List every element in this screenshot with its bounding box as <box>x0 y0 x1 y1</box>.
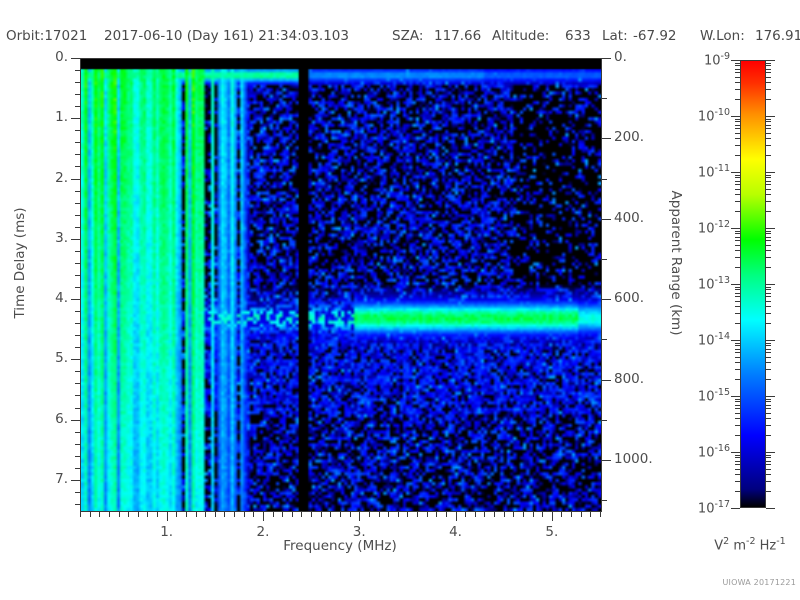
altitude-value: 633 <box>565 28 591 44</box>
axis-tick <box>196 512 197 517</box>
colorbar-units-label: V2 m-2 Hz-1 <box>690 536 800 553</box>
axis-tick <box>602 179 607 180</box>
axis-tick <box>766 379 771 380</box>
axis-tick <box>766 231 771 232</box>
apparent-range-tick-label: 0. <box>614 49 627 65</box>
axis-tick <box>340 512 341 517</box>
axis-tick <box>379 512 380 517</box>
axis-tick <box>436 512 437 517</box>
axis-tick <box>766 455 771 456</box>
frequency-tick-label: 1. <box>147 524 187 540</box>
axis-tick <box>766 245 771 246</box>
axis-tick <box>766 172 775 173</box>
axis-tick <box>263 512 264 521</box>
axis-tick <box>766 177 771 178</box>
axis-tick <box>602 380 611 381</box>
axis-tick <box>766 119 771 120</box>
axis-tick <box>571 512 572 517</box>
axis-tick <box>766 343 771 344</box>
axis-tick <box>602 219 611 220</box>
colorbar-tick-label: 10-15 <box>668 387 730 404</box>
time-delay-axis-title: Time Delay (ms) <box>12 183 28 343</box>
axis-tick <box>731 116 740 117</box>
west-longitude-label: W.Lon: <box>700 28 745 44</box>
axis-tick <box>766 175 771 176</box>
colorbar-tick-label: 10-10 <box>668 107 730 124</box>
axis-tick <box>388 512 389 517</box>
frequency-tick-label: 5. <box>532 524 572 540</box>
axis-tick <box>581 512 582 517</box>
axis-tick <box>602 460 611 461</box>
axis-tick <box>766 352 771 353</box>
axis-tick <box>359 512 360 521</box>
latitude-value: -67.92 <box>633 28 677 44</box>
axis-tick <box>99 512 100 517</box>
axis-tick <box>561 512 562 517</box>
axis-tick <box>552 512 553 521</box>
axis-tick <box>766 313 771 314</box>
time-delay-tick-label: 5. <box>22 350 68 366</box>
axis-tick <box>766 77 771 78</box>
axis-tick <box>731 508 740 509</box>
apparent-range-tick-label: 600. <box>614 290 644 306</box>
west-longitude-value: 176.91 <box>755 28 800 44</box>
axis-tick <box>766 452 775 453</box>
axis-tick <box>766 250 771 251</box>
colorbar <box>740 60 766 508</box>
axis-tick <box>766 133 771 134</box>
axis-tick <box>766 435 771 436</box>
axis-tick <box>766 60 775 61</box>
axis-tick <box>766 194 771 195</box>
axis-tick <box>766 128 771 129</box>
axis-tick <box>766 201 771 202</box>
axis-tick <box>350 512 351 517</box>
axis-tick <box>766 301 771 302</box>
apparent-range-axis-title: Apparent Range (km) <box>668 163 684 363</box>
axis-tick <box>602 259 607 260</box>
axis-tick <box>71 359 80 360</box>
axis-tick <box>766 125 771 126</box>
axis-tick <box>253 512 254 517</box>
time-delay-tick-label: 0. <box>22 49 68 65</box>
axis-tick <box>494 512 495 517</box>
time-delay-tick-label: 1. <box>22 109 68 125</box>
altitude-label: Altitude: <box>492 28 549 44</box>
sza-label: SZA: <box>392 28 423 44</box>
axis-tick <box>766 357 771 358</box>
axis-tick <box>273 512 274 517</box>
colorbar-tick-label: 10-16 <box>668 443 730 460</box>
axis-tick <box>244 512 245 517</box>
axis-tick <box>766 464 771 465</box>
axis-tick <box>766 228 775 229</box>
axis-tick <box>147 512 148 517</box>
axis-tick <box>205 512 206 517</box>
axis-tick <box>766 82 771 83</box>
axis-tick <box>766 138 771 139</box>
axis-tick <box>71 420 80 421</box>
axis-tick <box>766 481 771 482</box>
axis-tick <box>766 257 771 258</box>
axis-tick <box>766 116 775 117</box>
axis-tick <box>766 469 771 470</box>
frequency-axis-title: Frequency (MHz) <box>220 538 460 554</box>
axis-tick <box>766 340 775 341</box>
time-delay-tick-label: 3. <box>22 230 68 246</box>
axis-tick <box>766 181 771 182</box>
axis-tick <box>766 345 771 346</box>
apparent-range-tick-label: 1000. <box>614 451 653 467</box>
axis-tick <box>766 237 771 238</box>
axis-tick <box>766 289 771 290</box>
axis-tick <box>186 512 187 517</box>
axis-tick <box>766 362 771 363</box>
axis-tick <box>71 239 80 240</box>
axis-tick <box>602 500 607 501</box>
axis-tick <box>602 420 607 421</box>
axis-tick <box>766 401 771 402</box>
time-delay-tick-label: 6. <box>22 411 68 427</box>
axis-tick <box>128 512 129 517</box>
axis-tick <box>731 396 740 397</box>
axis-tick <box>766 72 771 73</box>
axis-tick <box>766 121 771 122</box>
axis-tick <box>513 512 514 517</box>
axis-tick <box>766 240 771 241</box>
axis-tick <box>417 512 418 517</box>
time-delay-tick-label: 4. <box>22 290 68 306</box>
orbit-label: Orbit:17021 <box>6 28 87 44</box>
axis-tick <box>427 512 428 517</box>
axis-tick <box>311 512 312 517</box>
axis-tick <box>138 512 139 517</box>
axis-tick <box>731 340 740 341</box>
axis-tick <box>766 69 771 70</box>
axis-tick <box>766 457 771 458</box>
sza-value: 117.66 <box>434 28 481 44</box>
axis-tick <box>224 512 225 517</box>
axis-tick <box>71 480 80 481</box>
axis-tick <box>504 512 505 517</box>
axis-tick <box>600 512 601 517</box>
axis-tick <box>465 512 466 517</box>
axis-tick <box>766 145 771 146</box>
axis-tick <box>766 306 771 307</box>
axis-tick <box>523 512 524 517</box>
institution-watermark: UIOWA 20171221 <box>700 578 796 587</box>
axis-tick <box>90 512 91 517</box>
axis-tick <box>602 299 611 300</box>
axis-tick <box>167 512 168 521</box>
colorbar-gradient <box>740 60 766 508</box>
axis-tick <box>292 512 293 517</box>
axis-tick <box>602 138 611 139</box>
axis-tick <box>766 323 771 324</box>
axis-tick <box>766 349 771 350</box>
axis-tick <box>330 512 331 517</box>
axis-tick <box>446 512 447 517</box>
observation-datetime: 2017-06-10 (Day 161) 21:34:03.103 <box>104 28 349 44</box>
axis-tick <box>157 512 158 517</box>
ionogram-plot-area <box>80 58 602 512</box>
axis-tick <box>731 172 740 173</box>
axis-tick <box>301 512 302 517</box>
apparent-range-tick-label: 400. <box>614 210 644 226</box>
axis-tick <box>215 512 216 517</box>
axis-tick <box>766 413 771 414</box>
axis-tick <box>602 58 611 59</box>
axis-tick <box>766 211 771 212</box>
axis-tick <box>176 512 177 517</box>
axis-tick <box>602 339 607 340</box>
axis-tick <box>542 512 543 517</box>
time-delay-tick-label: 2. <box>22 170 68 186</box>
ionogram-heatmap <box>81 59 601 511</box>
axis-tick <box>71 299 80 300</box>
axis-tick <box>71 179 80 180</box>
axis-tick <box>321 512 322 517</box>
axis-tick <box>533 512 534 517</box>
axis-tick <box>484 512 485 517</box>
axis-tick <box>766 396 775 397</box>
axis-tick <box>766 284 775 285</box>
axis-tick <box>731 452 740 453</box>
axis-tick <box>766 189 771 190</box>
axis-tick <box>766 89 771 90</box>
axis-tick <box>71 118 80 119</box>
axis-tick <box>109 512 110 517</box>
time-delay-tick-label: 7. <box>22 471 68 487</box>
axis-tick <box>766 184 771 185</box>
axis-tick <box>119 512 120 517</box>
axis-tick <box>766 65 771 66</box>
axis-tick <box>766 508 775 509</box>
axis-tick <box>731 60 740 61</box>
axis-tick <box>766 155 771 156</box>
axis-tick <box>369 512 370 517</box>
axis-tick <box>475 512 476 517</box>
colorbar-tick-label: 10-17 <box>668 499 730 516</box>
axis-tick <box>71 58 80 59</box>
axis-tick <box>766 399 771 400</box>
axis-tick <box>590 512 591 517</box>
axis-tick <box>766 461 771 462</box>
axis-tick <box>407 512 408 517</box>
axis-tick <box>766 425 771 426</box>
axis-tick <box>80 512 81 517</box>
axis-tick <box>731 284 740 285</box>
apparent-range-tick-label: 200. <box>614 129 644 145</box>
metadata-header: Orbit:17021 2017-06-10 (Day 161) 21:34:0… <box>0 28 800 48</box>
axis-tick <box>766 99 771 100</box>
axis-tick <box>766 296 771 297</box>
axis-tick <box>766 63 771 64</box>
axis-tick <box>766 369 771 370</box>
axis-tick <box>766 405 771 406</box>
axis-tick <box>766 418 771 419</box>
axis-tick <box>398 512 399 517</box>
apparent-range-tick-label: 800. <box>614 371 644 387</box>
axis-tick <box>766 233 771 234</box>
axis-tick <box>766 474 771 475</box>
axis-tick <box>766 408 771 409</box>
latitude-label: Lat: <box>602 28 628 44</box>
axis-tick <box>766 267 771 268</box>
axis-tick <box>766 287 771 288</box>
axis-tick <box>731 228 740 229</box>
axis-tick <box>766 491 771 492</box>
axis-tick <box>456 512 457 521</box>
axis-tick <box>766 293 771 294</box>
axis-tick <box>602 98 607 99</box>
axis-tick <box>282 512 283 517</box>
colorbar-tick-label: 10-9 <box>668 51 730 68</box>
axis-tick <box>234 512 235 517</box>
